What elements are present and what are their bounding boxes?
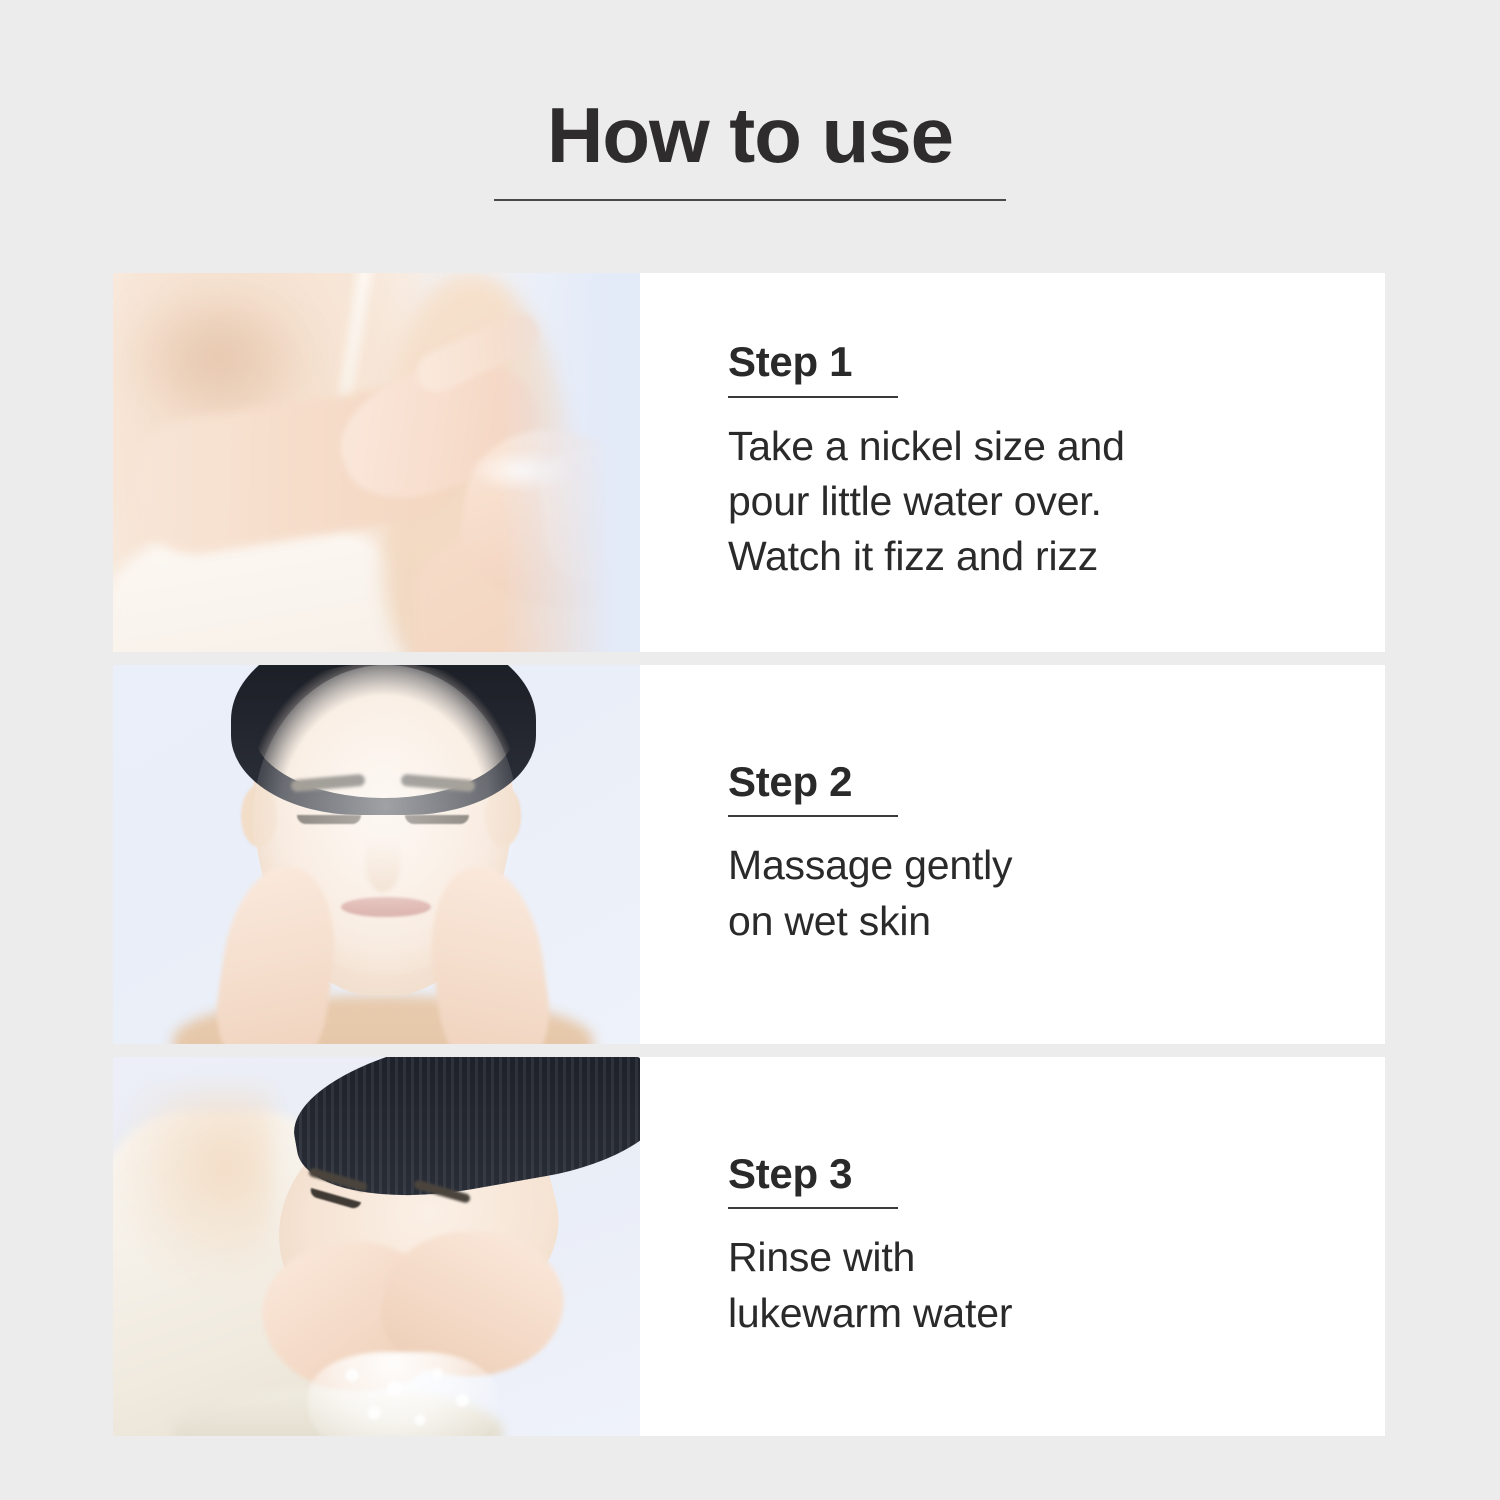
step-3-text: Step 3 Rinse with lukewarm water	[640, 1057, 1385, 1436]
step-heading: Step 1	[728, 340, 1345, 384]
step-row: Step 3 Rinse with lukewarm water	[113, 1057, 1385, 1436]
step-2-photo	[113, 665, 640, 1044]
step-3-photo	[113, 1057, 640, 1436]
step-body: Rinse with lukewarm water	[728, 1230, 1345, 1341]
step-heading-underline	[728, 815, 898, 817]
step-row: Step 2 Massage gently on wet skin	[113, 665, 1385, 1044]
page-title: How to use	[0, 96, 1500, 174]
step-1-text: Step 1 Take a nickel size and pour littl…	[640, 273, 1385, 652]
step-heading-underline	[728, 396, 898, 398]
step-body: Massage gently on wet skin	[728, 838, 1345, 949]
title-underline	[494, 199, 1006, 201]
step-row: Step 1 Take a nickel size and pour littl…	[113, 273, 1385, 652]
step-heading-underline	[728, 1207, 898, 1209]
step-body: Take a nickel size and pour little water…	[728, 419, 1345, 585]
steps-list: Step 1 Take a nickel size and pour littl…	[113, 273, 1385, 1436]
step-1-photo	[113, 273, 640, 652]
photo-background-gradient	[500, 273, 640, 652]
step-heading: Step 3	[728, 1152, 1345, 1196]
shoulder-skin-shape	[113, 1087, 273, 1287]
how-to-use-infographic: How to use Step 1	[0, 0, 1500, 1500]
page-header: How to use	[0, 96, 1500, 201]
water-droplets-shape	[318, 1357, 488, 1436]
step-heading: Step 2	[728, 760, 1345, 804]
step-2-text: Step 2 Massage gently on wet skin	[640, 665, 1385, 1044]
